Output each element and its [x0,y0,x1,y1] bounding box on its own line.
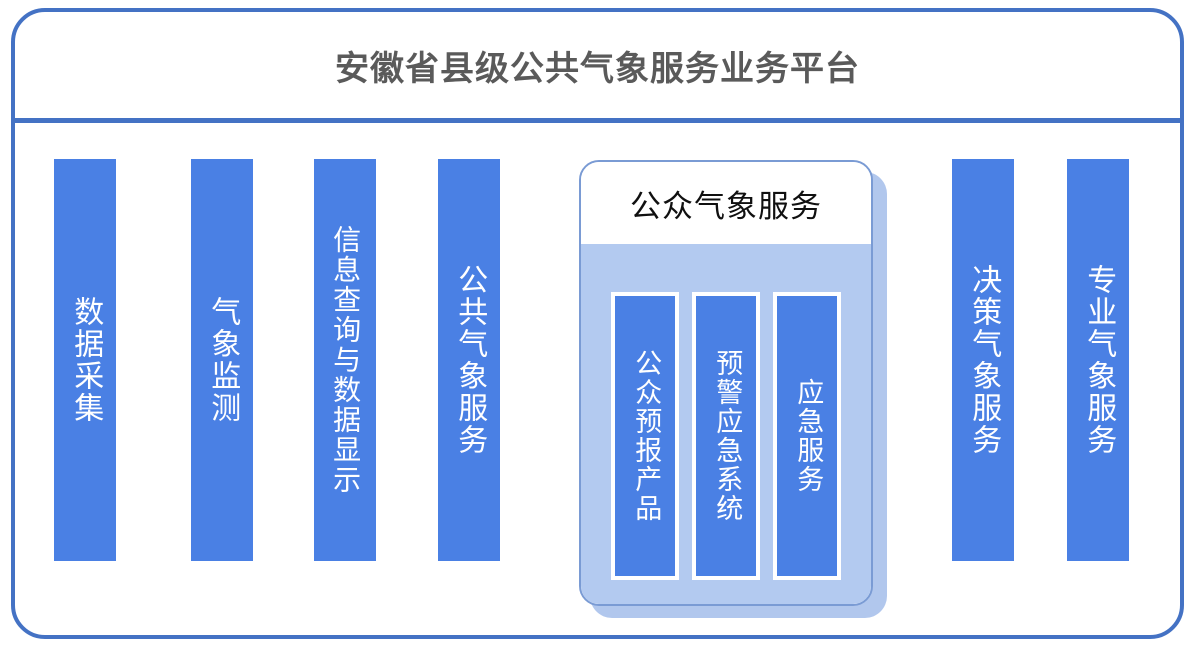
sub-module-bar-warning-emergency-system[interactable]: 预警应急系统 [692,292,760,580]
module-bar-decision-weather-service[interactable]: 决策气象服务 [952,159,1014,561]
sub-module-bar-public-forecast-products[interactable]: 公众预报产品 [611,292,679,580]
sub-module-bar-label: 预警应急系统 [712,349,741,523]
sub-module-bar-label: 应急服务 [793,378,822,494]
diagram-frame: 安徽省县级公共气象服务业务平台 数据采集 气象监测 信息查询与数据显示 公共气象… [11,8,1184,639]
module-bar-info-query-and-display[interactable]: 信息查询与数据显示 [314,159,376,561]
module-bar-public-weather-service[interactable]: 公共气象服务 [438,159,500,561]
center-panel-title: 公众气象服务 [630,181,822,226]
sub-module-bar-label: 公众预报产品 [631,349,660,523]
module-bar-data-collection[interactable]: 数据采集 [54,159,116,561]
module-bar-label: 信息查询与数据显示 [330,225,360,495]
module-bar-label: 数据采集 [69,296,101,424]
module-bar-label: 专业气象服务 [1082,264,1114,456]
center-panel-public-weather-service[interactable]: 公众气象服务 公众预报产品 预警应急系统 应急服务 [579,160,873,606]
page-title: 安徽省县级公共气象服务业务平台 [335,41,860,90]
module-bar-weather-monitoring[interactable]: 气象监测 [191,159,253,561]
title-divider [15,118,1180,123]
module-bar-label: 决策气象服务 [967,264,999,456]
module-bar-professional-weather-service[interactable]: 专业气象服务 [1067,159,1129,561]
module-bar-label: 气象监测 [206,296,238,424]
module-bar-label: 公共气象服务 [453,264,485,456]
center-panel-header: 公众气象服务 [581,162,871,244]
title-band: 安徽省县级公共气象服务业务平台 [15,12,1180,118]
center-panel-body: 公众预报产品 预警应急系统 应急服务 [581,244,871,604]
sub-module-bar-emergency-service[interactable]: 应急服务 [773,292,841,580]
